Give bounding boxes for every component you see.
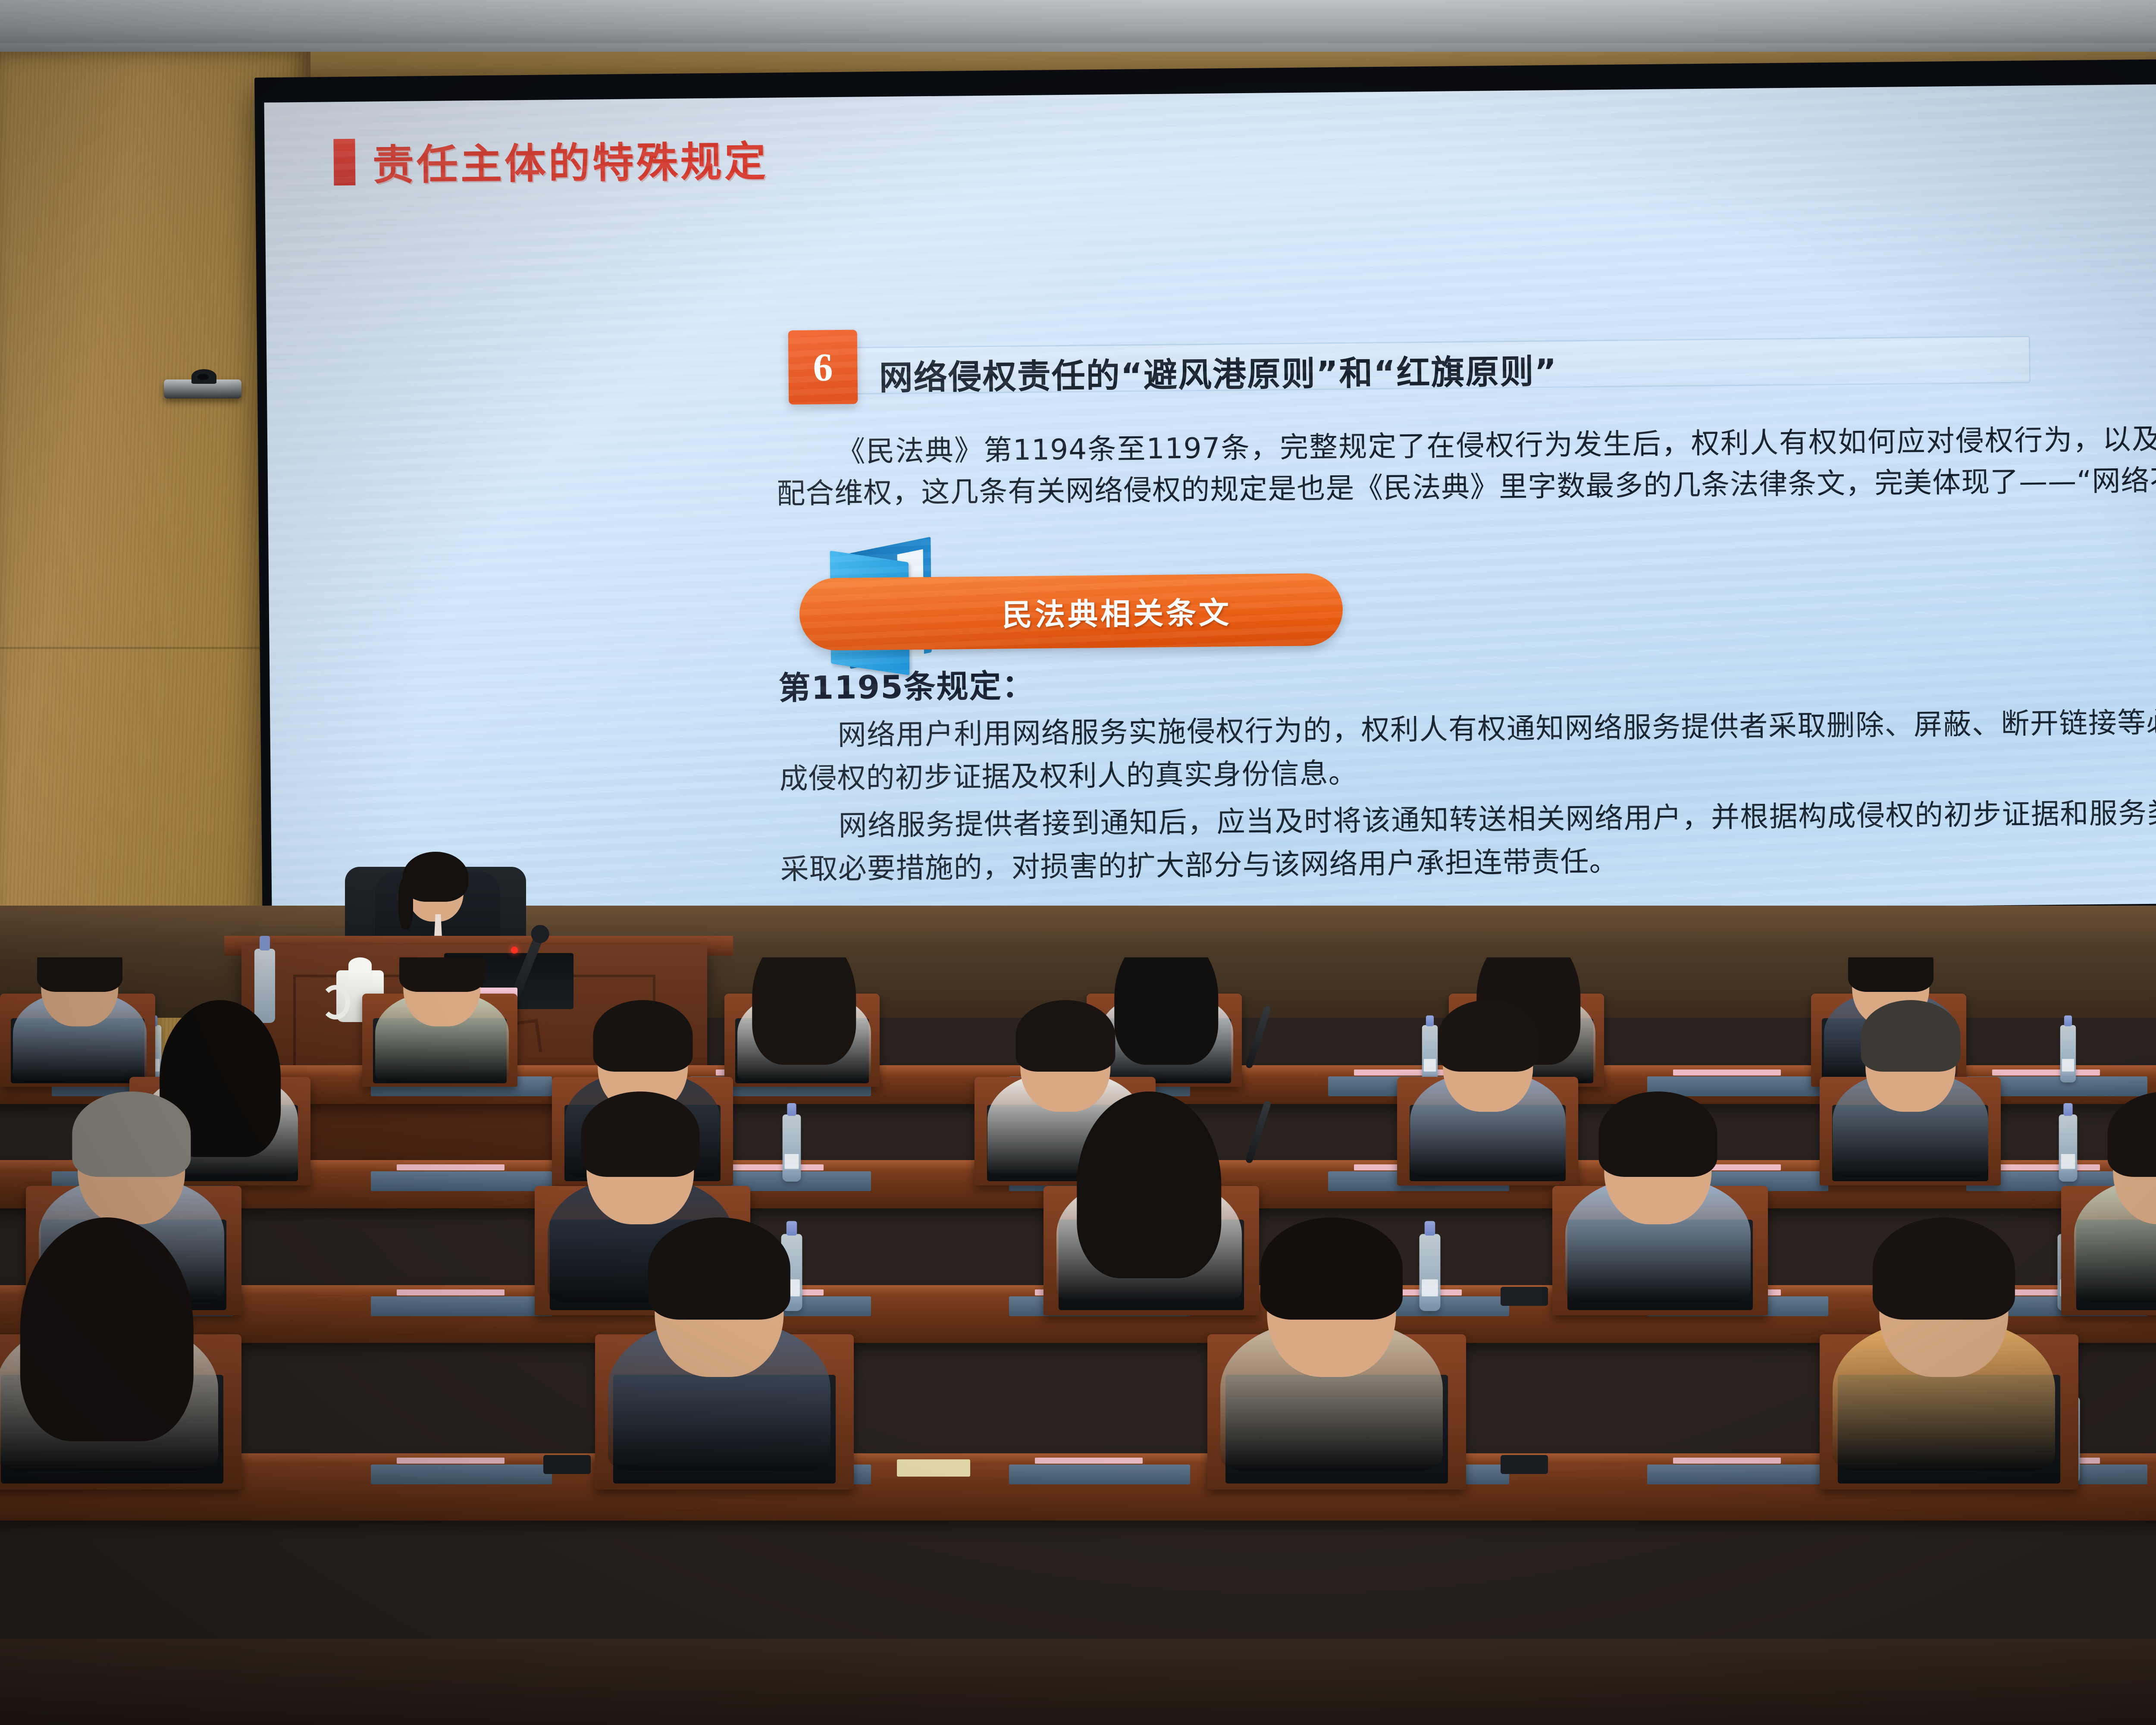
audience-member [737, 957, 871, 1082]
audience-member-hair [1861, 1000, 1960, 1072]
audience-member-hair [648, 1217, 790, 1320]
speaker-hair [403, 852, 468, 902]
desk-pad [1009, 1465, 1190, 1484]
desk-paper-slip [397, 1289, 505, 1295]
desk-pad [371, 1171, 552, 1191]
audience-member [375, 957, 509, 1082]
audience-member-hair [72, 1091, 191, 1176]
smartphone-icon [543, 1455, 591, 1474]
water-bottle-icon [2060, 1025, 2076, 1082]
desk-paper-slip [397, 1164, 505, 1170]
audience-member [2074, 1100, 2156, 1302]
smartphone-icon [1501, 1287, 1548, 1306]
presentation-slide: 责任主体的特殊规定 TAHOTA 泰和泰 6 网络侵权责任的“避风港原则”和“红… [264, 81, 2156, 922]
title-accent-bar [333, 138, 355, 185]
audience-member [13, 957, 147, 1082]
desk-pad [371, 1296, 552, 1316]
audience-member [1056, 1100, 1242, 1302]
audience-member-hair [2107, 1091, 2156, 1176]
desk-microphone-icon [1245, 1100, 1272, 1164]
projection-screen: 责任主体的特殊规定 TAHOTA 泰和泰 6 网络侵权责任的“避风港原则”和“红… [254, 56, 2156, 936]
audience-member-hair [1598, 1091, 1717, 1176]
audience-member-hair [1077, 1091, 1221, 1278]
desk-pad [371, 1465, 552, 1484]
desk-microphone-icon [1245, 1005, 1272, 1069]
desk-paper-slip [1673, 1069, 1781, 1076]
audience-member-hair [752, 957, 856, 1065]
audience-member [1833, 1007, 1988, 1177]
lecture-hall-scene: 责任主体的特殊规定 TAHOTA 泰和泰 6 网络侵权责任的“避风港原则”和“红… [0, 0, 2156, 1725]
audience-member-hair [399, 957, 485, 992]
audience-member-hair [1015, 1000, 1115, 1072]
slide-title: 责任主体的特殊规定 [372, 128, 768, 192]
audience-member-hair [1873, 1217, 2015, 1320]
audience-member-hair [20, 1217, 194, 1441]
desk-paper-slip [1035, 1458, 1143, 1464]
audience-member [1220, 1227, 1443, 1471]
desk-paper-slip [1992, 1069, 2100, 1076]
audience-member [608, 1227, 830, 1471]
article-paragraph: 网络用户利用网络服务实施侵权行为的，权利人有权通知网络服务提供者采取删除、屏蔽、… [779, 698, 2156, 800]
smartphone-icon [1501, 1455, 1548, 1474]
audience-member-hair [1848, 957, 1934, 992]
audience-member-hair [593, 1000, 693, 1072]
audience-area [0, 957, 2156, 1725]
section-heading: 网络侵权责任的“避风港原则”和“红旗原则” [879, 345, 1557, 399]
water-bottle-icon [783, 1114, 801, 1182]
audience-member-hair [581, 1091, 699, 1176]
notebook-icon [897, 1459, 970, 1477]
audience-member [1565, 1100, 1751, 1302]
related-articles-banner: 民法典相关条文 [799, 573, 1343, 651]
audience-member-hair [1438, 1000, 1538, 1072]
related-articles-label: 民法典相关条文 [1002, 589, 1232, 634]
audience-member [0, 1227, 218, 1471]
audience-member [1833, 1227, 2055, 1471]
audience-member [1410, 1007, 1566, 1177]
floor [0, 1639, 2156, 1725]
article-paragraph: 网络服务提供者接到通知后，应当及时将该通知转送相关网络用户，并根据构成侵权的初步… [780, 788, 2156, 891]
desk-paper-slip [397, 1458, 505, 1464]
audience-member-hair [37, 957, 122, 992]
wall-camera-icon [164, 379, 241, 398]
article-heading: 第1195条规定： [778, 660, 1035, 709]
section-number-chip: 6 [788, 330, 858, 405]
slide-title-row: 责任主体的特殊规定 [333, 128, 768, 192]
microphone-led-indicator [511, 947, 518, 953]
desk-paper-slip [1673, 1458, 1781, 1464]
audience-member-hair [1260, 1217, 1403, 1320]
intro-paragraph: 《民法典》第1194条至1197条，完整规定了在侵权行为发生后，权利人有权如何应… [776, 415, 2156, 514]
desk-pad [1647, 1465, 1828, 1484]
